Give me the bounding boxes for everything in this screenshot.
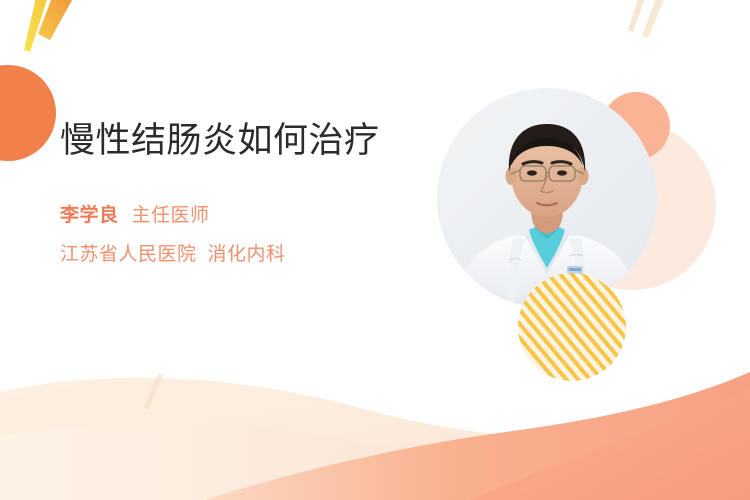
doctor-video-cover-card: 慢性结肠炎如何治疗 李学良主任医师 江苏省人民医院消化内科: [0, 0, 750, 500]
page-title: 慢性结肠炎如何治疗: [60, 118, 390, 164]
orange-circle-decor: [0, 65, 56, 161]
department-name: 消化内科: [208, 244, 286, 265]
doctor-name: 李学良: [60, 205, 119, 226]
doctor-byline: 李学良主任医师: [60, 206, 410, 225]
top-left-stripes-decor: [24, 0, 82, 52]
doctor-affiliation: 江苏省人民医院消化内科: [60, 245, 410, 264]
top-right-stripes-decor: [628, 0, 668, 38]
doctor-portrait-photo: [437, 88, 657, 308]
wave-cream-decor: [0, 423, 750, 500]
doctor-professional-title: 主任医师: [132, 205, 210, 226]
striped-circle-decor: [518, 273, 626, 381]
hospital-name: 江苏省人民医院: [60, 244, 197, 265]
bottom-left-stripe-decor: [143, 374, 164, 410]
text-content-block: 慢性结肠炎如何治疗 李学良主任医师 江苏省人民医院消化内科: [60, 118, 410, 264]
portrait-cluster: [430, 78, 750, 408]
